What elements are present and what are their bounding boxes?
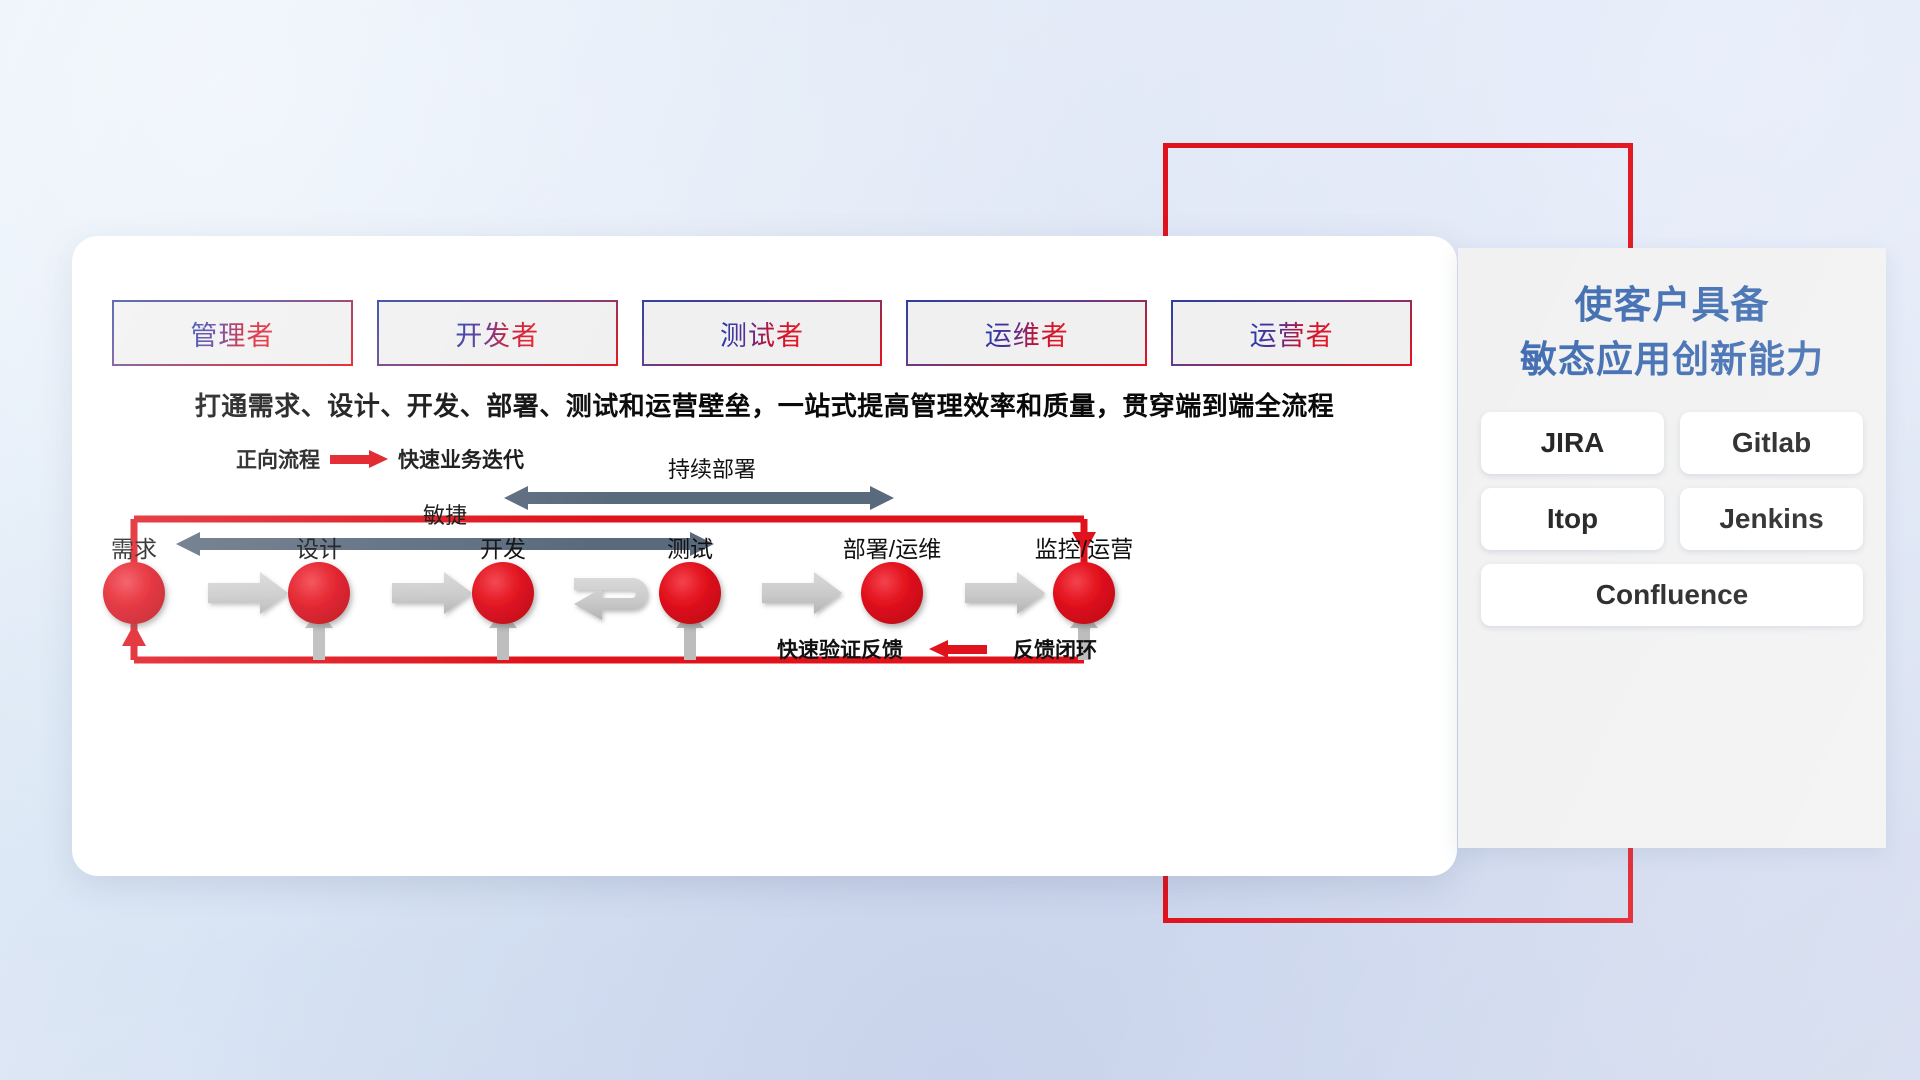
- tool-badge-jira[interactable]: JIRA: [1481, 412, 1664, 474]
- step-arrow-3: [762, 572, 842, 614]
- value-proposition-panel: 使客户具备 敏态应用创新能力 JIRA Gitlab Itop Jenkins …: [1458, 248, 1886, 848]
- step-arrow-4: [965, 572, 1045, 614]
- slide-canvas: 管理者 开发者 测试者 运维者 运营者 打通需求、设计、开发、部署、测试和运营壁…: [0, 0, 1920, 1080]
- bracket-label-agile: 敏捷: [423, 498, 467, 530]
- process-flow-diagram: [72, 236, 1457, 876]
- stage-circle-design: [288, 562, 350, 624]
- stage-circle-develop: [472, 562, 534, 624]
- panel-title-line1: 使客户具备: [1574, 285, 1769, 327]
- stage-circle-test: [659, 562, 721, 624]
- stage-circle-requirement: [103, 562, 165, 624]
- stage-circle-monitor: [1053, 562, 1115, 624]
- stage-label-test: 测试: [667, 530, 713, 564]
- stage-label-design: 设计: [296, 530, 342, 564]
- main-content-card: 管理者 开发者 测试者 运维者 运营者 打通需求、设计、开发、部署、测试和运营壁…: [72, 236, 1457, 876]
- bracket-label-continuous-deployment: 持续部署: [668, 452, 756, 484]
- step-arrow-1: [208, 572, 288, 614]
- red-arrow-left-icon: [929, 640, 987, 658]
- tool-badge-jenkins[interactable]: Jenkins: [1680, 488, 1863, 550]
- step-arrow-2: [392, 572, 472, 614]
- legend-feedback-left-label: 快速验证反馈: [777, 634, 903, 664]
- panel-title-line2: 敏态应用创新能力: [1458, 334, 1886, 387]
- red-loop-arrowhead-up: [122, 624, 146, 646]
- tool-badge-group: JIRA Gitlab Itop Jenkins Confluence: [1472, 412, 1872, 626]
- stage-label-requirement: 需求: [111, 530, 157, 564]
- stage-circle-deploy: [861, 562, 923, 624]
- stage-label-monitor: 监控/运营: [1035, 530, 1133, 564]
- bracket-arrow-continuous-deployment: [504, 486, 894, 510]
- panel-title: 使客户具备 敏态应用创新能力: [1458, 280, 1886, 386]
- bracket-arrow-agile: [176, 532, 714, 556]
- tool-badge-itop[interactable]: Itop: [1481, 488, 1664, 550]
- legend-feedback-right-label: 反馈闭环: [1013, 634, 1097, 664]
- stage-label-deploy: 部署/运维: [843, 530, 941, 564]
- tool-badge-gitlab[interactable]: Gitlab: [1680, 412, 1863, 474]
- step-arrow-loopback: [574, 578, 648, 620]
- legend-feedback-loop: 快速验证反馈 反馈闭环: [777, 634, 1097, 664]
- stage-label-develop: 开发: [480, 530, 526, 564]
- tool-badge-confluence[interactable]: Confluence: [1481, 564, 1863, 626]
